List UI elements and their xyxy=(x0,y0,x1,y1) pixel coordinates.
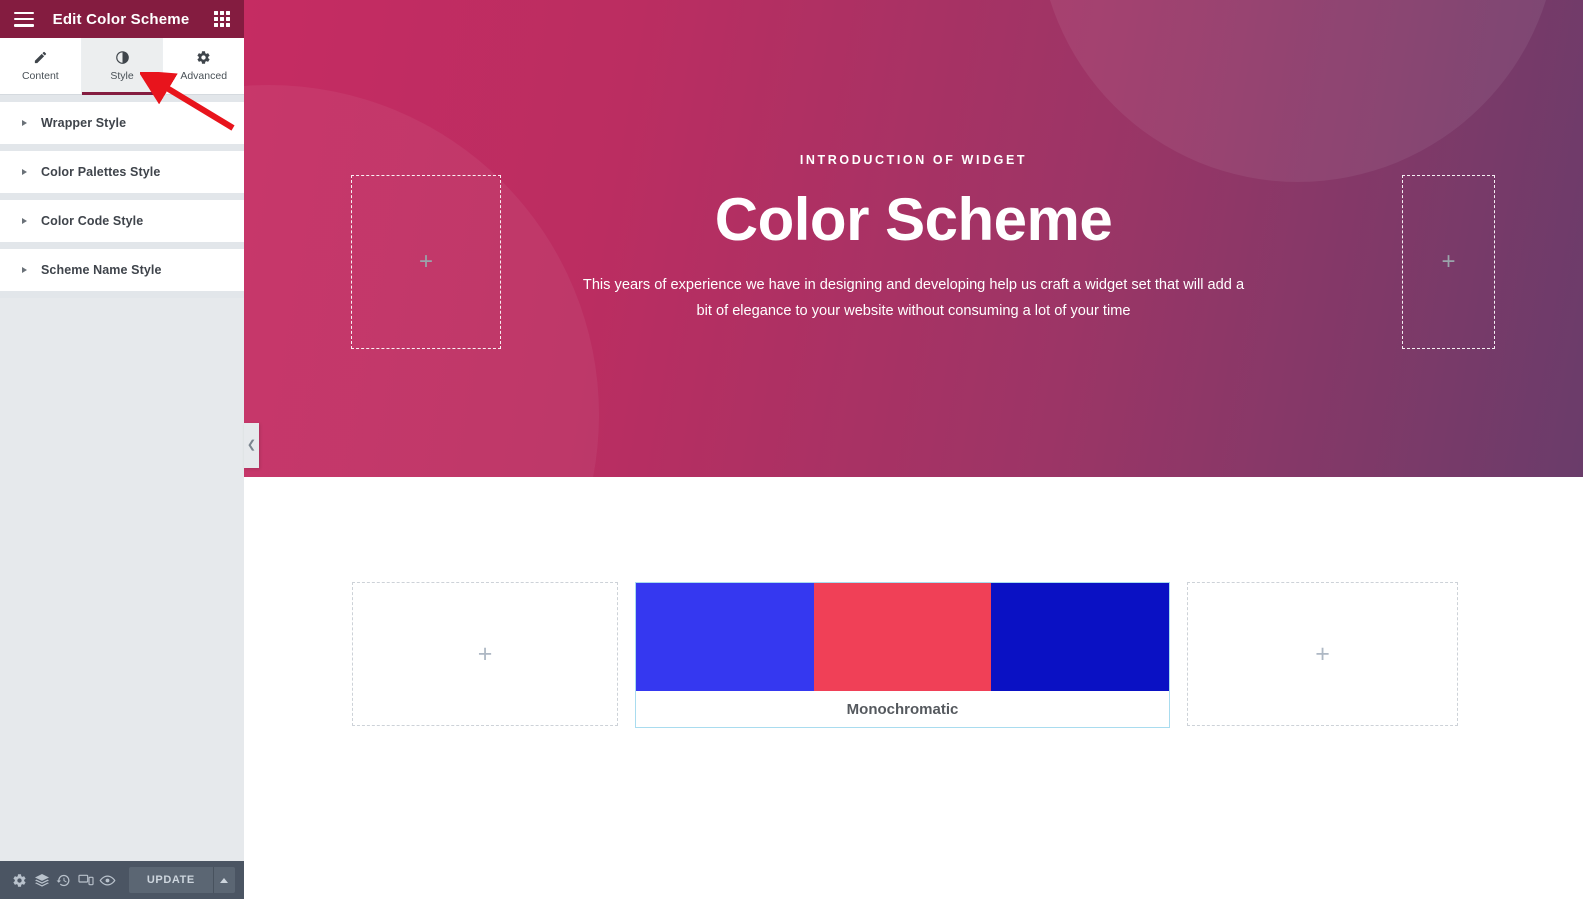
panel-empty-area xyxy=(0,298,244,861)
tab-content[interactable]: Content xyxy=(0,38,82,94)
accordion-divider xyxy=(0,242,244,249)
lower-section: + Monochromatic + xyxy=(244,477,1583,899)
color-scheme-widget[interactable]: Monochromatic xyxy=(635,582,1170,728)
settings-gear-icon[interactable] xyxy=(9,866,31,894)
style-accordion: Wrapper Style Color Palettes Style Color… xyxy=(0,95,244,298)
chevron-right-icon xyxy=(22,267,27,273)
editor-panel: Edit Color Scheme Content Style xyxy=(0,0,244,899)
tab-content-label: Content xyxy=(22,70,59,82)
accordion-section-label: Wrapper Style xyxy=(41,116,126,130)
panel-title: Edit Color Scheme xyxy=(28,11,214,28)
panel-header: Edit Color Scheme xyxy=(0,0,244,38)
hero-text-block: INTRODUCTION OF WIDGET Color Scheme This… xyxy=(574,153,1254,325)
plus-icon: + xyxy=(1315,642,1330,667)
accordion-divider xyxy=(0,291,244,298)
hero-section: + + INTRODUCTION OF WIDGET Color Scheme … xyxy=(244,0,1583,477)
editor-root: Edit Color Scheme Content Style xyxy=(0,0,1583,899)
accordion-section-color-code-style[interactable]: Color Code Style xyxy=(0,200,244,242)
tab-advanced-label: Advanced xyxy=(180,70,227,82)
tab-style[interactable]: Style xyxy=(82,38,164,94)
preview-eye-icon[interactable] xyxy=(97,866,119,894)
history-icon[interactable] xyxy=(53,866,75,894)
panel-footer: UPDATE xyxy=(0,861,244,899)
layers-navigator-icon[interactable] xyxy=(31,866,53,894)
pencil-icon xyxy=(33,50,48,65)
color-swatch-1[interactable] xyxy=(636,583,814,691)
panel-collapse-handle[interactable]: ❮ xyxy=(244,423,259,468)
hero-eyebrow: INTRODUCTION OF WIDGET xyxy=(574,153,1254,167)
panel-tabbar: Content Style Advanced xyxy=(0,38,244,95)
scheme-name-label: Monochromatic xyxy=(636,691,1169,727)
accordion-section-wrapper-style[interactable]: Wrapper Style xyxy=(0,102,244,144)
accordion-section-scheme-name-style[interactable]: Scheme Name Style xyxy=(0,249,244,291)
hero-title: Color Scheme xyxy=(574,188,1254,251)
tab-style-label: Style xyxy=(110,70,133,82)
lower-placeholder-left[interactable]: + xyxy=(352,582,618,726)
chevron-right-icon xyxy=(22,218,27,224)
accordion-divider xyxy=(0,193,244,200)
color-swatch-3[interactable] xyxy=(991,583,1169,691)
accordion-section-label: Color Code Style xyxy=(41,214,143,228)
preview-canvas: + + INTRODUCTION OF WIDGET Color Scheme … xyxy=(244,0,1583,899)
color-swatch-row xyxy=(636,583,1169,691)
plus-icon: + xyxy=(478,642,493,667)
accordion-section-label: Color Palettes Style xyxy=(41,165,160,179)
lower-placeholder-right[interactable]: + xyxy=(1187,582,1458,726)
accordion-divider xyxy=(0,95,244,102)
responsive-mode-icon[interactable] xyxy=(75,866,97,894)
hero-subtitle: This years of experience we have in desi… xyxy=(578,273,1250,325)
update-button[interactable]: UPDATE xyxy=(129,867,213,893)
color-swatch-2[interactable] xyxy=(814,583,992,691)
contrast-icon xyxy=(115,50,130,65)
accordion-divider xyxy=(0,144,244,151)
chevron-up-icon xyxy=(220,878,228,883)
accordion-section-label: Scheme Name Style xyxy=(41,263,162,277)
tab-advanced[interactable]: Advanced xyxy=(163,38,244,94)
chevron-left-icon: ❮ xyxy=(247,440,256,451)
grid-apps-icon[interactable] xyxy=(214,11,230,27)
chevron-right-icon xyxy=(22,120,27,126)
update-options-button[interactable] xyxy=(213,867,235,893)
chevron-right-icon xyxy=(22,169,27,175)
accordion-section-color-palettes-style[interactable]: Color Palettes Style xyxy=(0,151,244,193)
gear-icon xyxy=(196,50,211,65)
